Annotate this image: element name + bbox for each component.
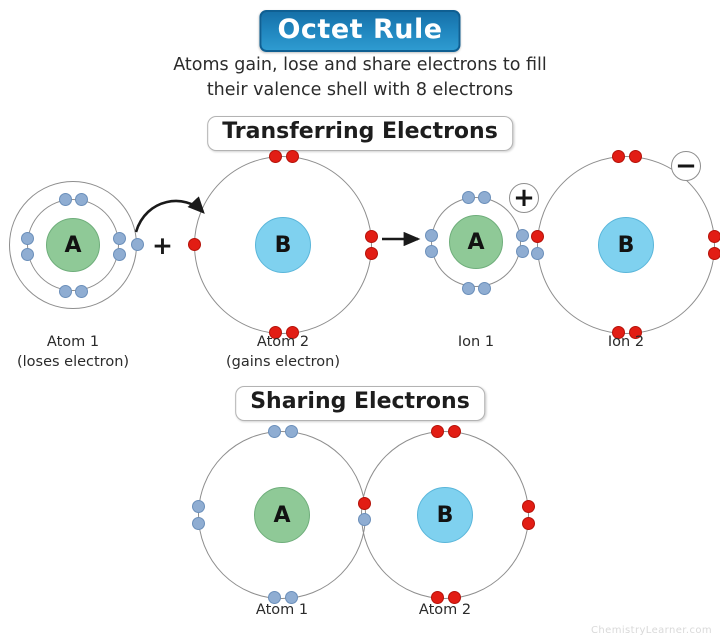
atom2-transfer-label: Atom 2 (gains electron) xyxy=(193,333,373,372)
page-title: Octet Rule xyxy=(277,15,442,45)
atom2-nucleus-label: B xyxy=(275,233,292,258)
ion2-nucleus: B xyxy=(598,217,654,273)
atom1-transfer-label-line2: (loses electron) xyxy=(8,353,138,373)
ion2-electron xyxy=(612,150,625,163)
sharing-atom2-electron xyxy=(522,517,535,530)
ion2-label: Ion 2 xyxy=(536,333,716,353)
ion1-electron xyxy=(516,245,529,258)
atom1-inner-electron xyxy=(59,285,72,298)
ion1-electron xyxy=(516,229,529,242)
sharing-atom2-nucleus: B xyxy=(417,487,473,543)
ion2-nucleus-label: B xyxy=(618,233,635,258)
atom1-inner-electron xyxy=(21,248,34,261)
subtitle-line-2: their valence shell with 8 electrons xyxy=(0,78,720,103)
atom1-nucleus: A xyxy=(46,218,100,272)
sharing-atom2-label: Atom 2 xyxy=(360,601,530,621)
ion2-electron xyxy=(708,230,720,243)
ion2-charge-symbol: − xyxy=(675,153,697,179)
page-title-badge: Octet Rule xyxy=(259,10,460,52)
ion2-electron xyxy=(531,230,544,243)
atom-diagram-sharing-atom2: B xyxy=(360,430,530,600)
atom1-inner-electron xyxy=(113,248,126,261)
ion2-electron xyxy=(629,150,642,163)
sharing-atom1-electron xyxy=(285,425,298,438)
atom2-valence-electron xyxy=(188,238,201,251)
atom-diagram-atom2: B xyxy=(193,155,373,335)
section-header-sharing: Sharing Electrons xyxy=(235,386,485,421)
atom2-nucleus: B xyxy=(255,217,311,273)
ion1-electron xyxy=(425,229,438,242)
section-header-transferring-label: Transferring Electrons xyxy=(222,120,498,145)
sharing-atom2-label-text: Atom 2 xyxy=(360,601,530,621)
ion1-label-text: Ion 1 xyxy=(430,333,522,353)
atom2-valence-electron xyxy=(365,230,378,243)
atom2-valence-electron xyxy=(269,150,282,163)
atom2-transfer-label-line1: Atom 2 xyxy=(193,333,373,353)
atom1-inner-electron xyxy=(21,232,34,245)
atom2-valence-electron xyxy=(365,247,378,260)
ion2-label-text: Ion 2 xyxy=(536,333,716,353)
shared-electron-blue xyxy=(358,513,371,526)
ion1-charge-badge: + xyxy=(509,183,539,213)
atom1-inner-electron xyxy=(75,193,88,206)
sharing-atom1-label-text: Atom 1 xyxy=(197,601,367,621)
ion2-transferred-electron xyxy=(531,247,544,260)
ion1-electron xyxy=(462,191,475,204)
atom1-valence-electron xyxy=(131,238,144,251)
plus-operator: + xyxy=(152,233,173,258)
atom1-inner-electron xyxy=(75,285,88,298)
atom2-valence-electron xyxy=(286,150,299,163)
sharing-atom1-nucleus: A xyxy=(254,487,310,543)
atom1-transfer-label: Atom 1 (loses electron) xyxy=(8,333,138,372)
ion1-charge-symbol: + xyxy=(513,185,535,211)
atom1-inner-electron xyxy=(59,193,72,206)
ion1-electron xyxy=(478,282,491,295)
atom1-transfer-label-line1: Atom 1 xyxy=(8,333,138,353)
sharing-atom2-electron xyxy=(522,500,535,513)
sharing-atom1-electron xyxy=(192,517,205,530)
sharing-atom1-nucleus-label: A xyxy=(273,503,290,528)
ion2-electron xyxy=(708,247,720,260)
ion1-electron xyxy=(462,282,475,295)
ion1-nucleus-label: A xyxy=(467,230,484,255)
atom-diagram-ion2: B xyxy=(536,155,716,335)
atom-diagram-atom1: A xyxy=(8,180,138,310)
shared-electron-red xyxy=(358,497,371,510)
atom1-inner-electron xyxy=(113,232,126,245)
sharing-atom2-electron xyxy=(448,425,461,438)
page-subtitle: Atoms gain, lose and share electrons to … xyxy=(0,53,720,104)
sharing-atom1-electron xyxy=(268,425,281,438)
ion1-label: Ion 1 xyxy=(430,333,522,353)
sharing-atom2-nucleus-label: B xyxy=(437,503,454,528)
ion1-electron xyxy=(425,245,438,258)
ion1-nucleus: A xyxy=(449,215,503,269)
watermark: ChemistryLearner.com xyxy=(591,625,712,636)
sharing-atom1-label: Atom 1 xyxy=(197,601,367,621)
ion2-charge-badge: − xyxy=(671,151,701,181)
atom2-transfer-label-line2: (gains electron) xyxy=(193,353,373,373)
ion1-electron xyxy=(478,191,491,204)
atom-diagram-ion1: A xyxy=(430,196,522,288)
subtitle-line-1: Atoms gain, lose and share electrons to … xyxy=(0,53,720,78)
atom1-nucleus-label: A xyxy=(64,233,81,258)
atom-diagram-sharing-atom1: A xyxy=(197,430,367,600)
section-header-transferring: Transferring Electrons xyxy=(207,116,513,151)
sharing-atom1-electron xyxy=(192,500,205,513)
sharing-atom2-electron xyxy=(431,425,444,438)
section-header-sharing-label: Sharing Electrons xyxy=(250,390,470,415)
